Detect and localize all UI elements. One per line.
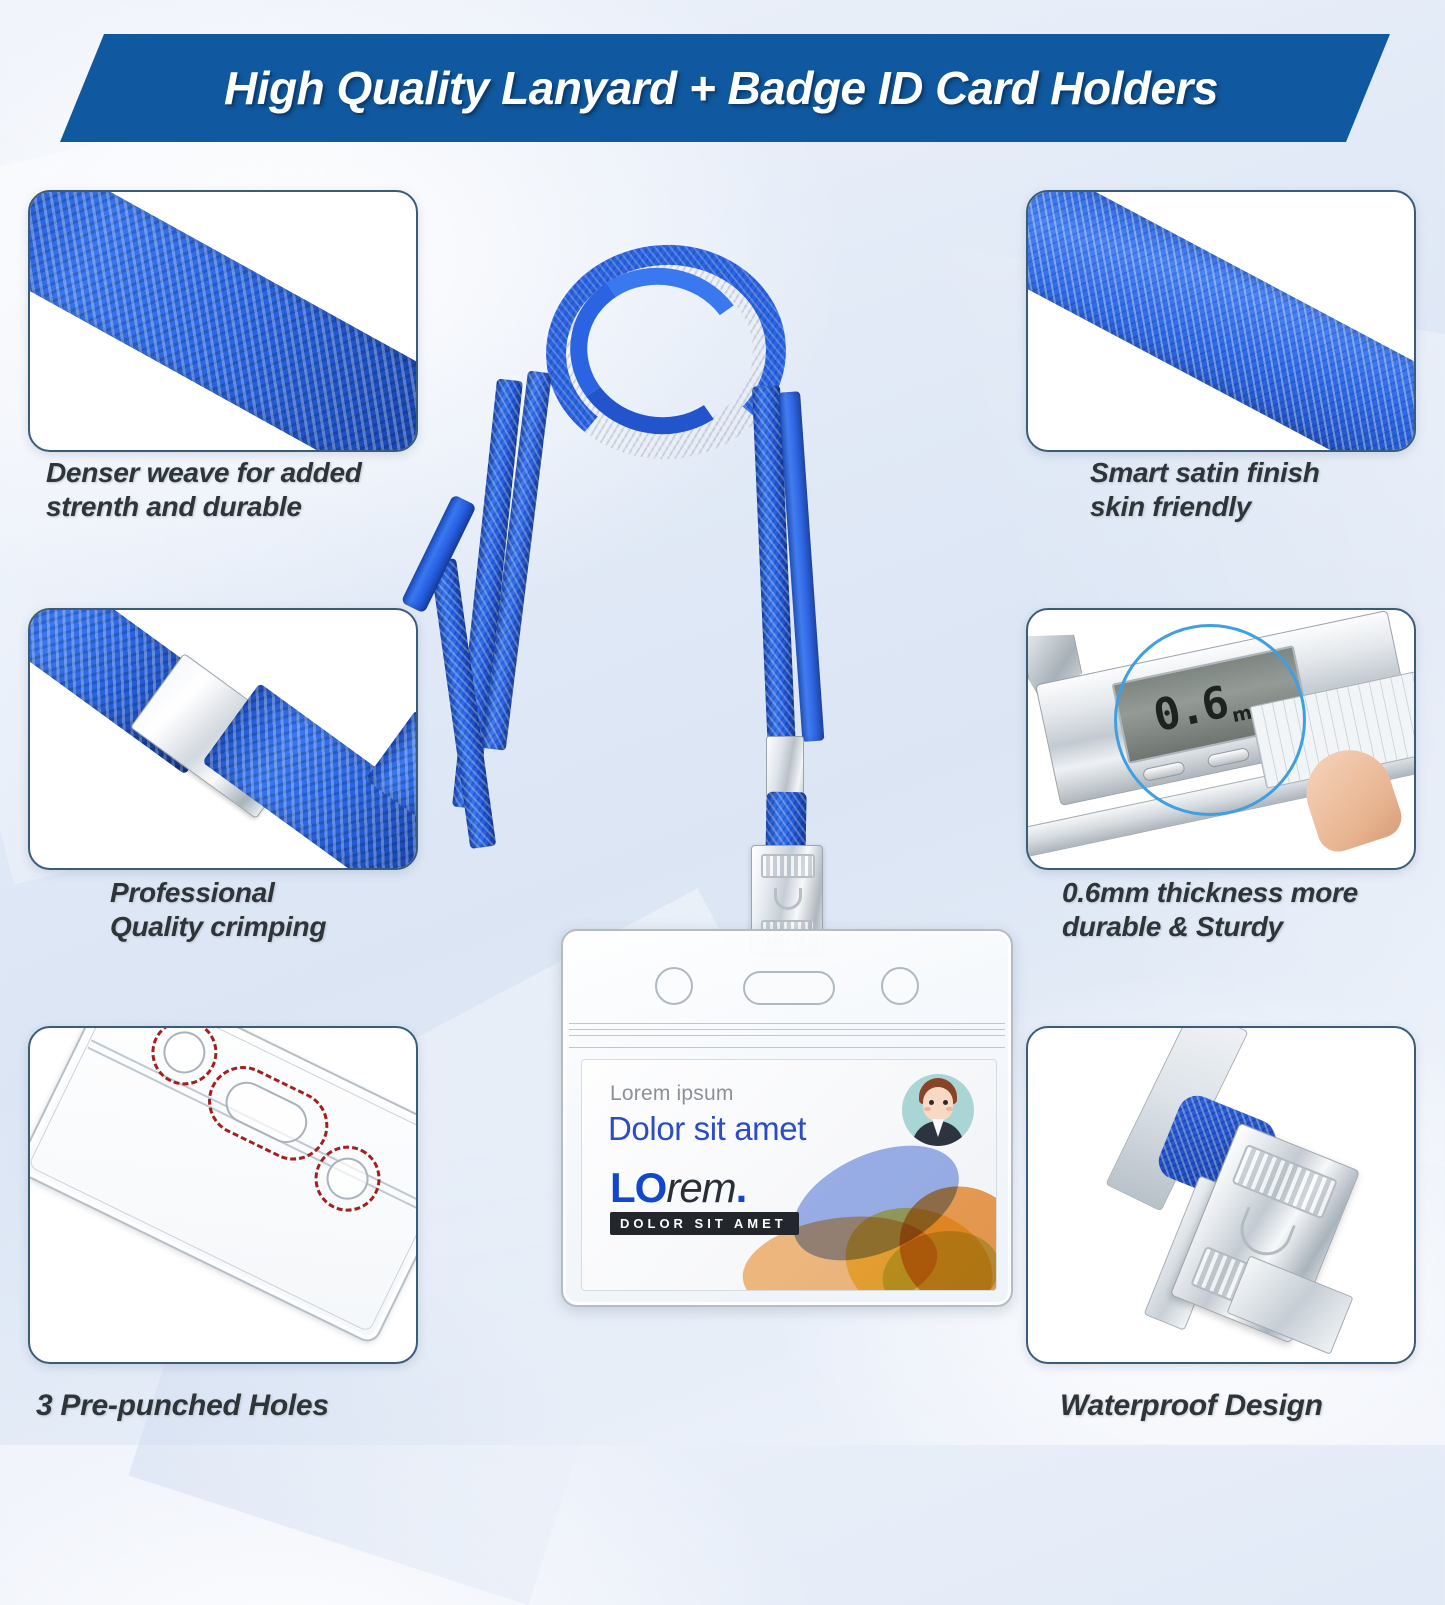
caption-line: Professional — [110, 876, 510, 910]
header-banner: High Quality Lanyard + Badge ID Card Hol… — [0, 34, 1445, 144]
caption-thickness: 0.6mm thickness more durable & Sturdy — [1062, 876, 1445, 944]
logo-bold-part: LO — [610, 1164, 666, 1211]
hero-badge-clip — [751, 845, 823, 953]
badge-holder-tilted-image — [28, 1026, 418, 1346]
lanyard-strand-left-b-texture — [482, 371, 552, 751]
lanyard-loop-inner — [557, 254, 763, 449]
lanyard-strand-left-tip — [430, 558, 496, 849]
lanyard-strand-left-tip-texture — [430, 558, 496, 849]
feature-panel-thickness: 0.6 mm — [1026, 608, 1416, 870]
avatar-face — [923, 1087, 953, 1121]
zip-seal-line — [569, 1047, 1005, 1048]
avatar-eye — [943, 1100, 948, 1105]
caption-line: 0.6mm thickness more — [1062, 876, 1445, 910]
measurement-highlight-circle — [1114, 624, 1306, 816]
decor-petal — [876, 1162, 997, 1291]
caption-crimping: Professional Quality crimping — [110, 876, 510, 944]
zip-seal-line — [569, 1023, 1005, 1024]
lanyard-strand-right — [752, 385, 796, 756]
clip-emboss-pattern — [761, 920, 815, 944]
feature-panel-crimping — [28, 608, 418, 870]
zip-seal-line — [569, 1035, 1005, 1036]
caption-line: Quality crimping — [110, 910, 510, 944]
caption-waterproof: Waterproof Design — [1060, 1388, 1445, 1425]
lanyard-strand-left — [452, 379, 523, 809]
lanyard-strap-weave-image — [28, 190, 418, 452]
lanyard-loop-texture — [539, 237, 793, 467]
caption-holes: 3 Pre-punched Holes — [36, 1388, 456, 1425]
decor-petal — [736, 1205, 943, 1291]
clip-emboss-u — [774, 888, 802, 910]
logo-dot: . — [736, 1164, 747, 1211]
lanyard-short-segment-texture — [766, 792, 806, 862]
logo-light-part: rem — [666, 1164, 735, 1211]
caption-satin: Smart satin finish skin friendly — [1090, 456, 1445, 524]
caption-line: Waterproof Design — [1060, 1388, 1445, 1425]
id-card-title: Dolor sit amet — [608, 1110, 806, 1148]
lanyard-loop-outer — [539, 237, 793, 467]
avatar-hair — [919, 1078, 957, 1104]
lanyard-strand-right-b — [778, 391, 824, 742]
banner-shape: High Quality Lanyard + Badge ID Card Hol… — [60, 34, 1390, 142]
punch-hole-round — [881, 967, 919, 1005]
caption-line: Denser weave for added — [46, 456, 446, 490]
avatar-cheek — [946, 1107, 953, 1111]
feature-panel-weave — [28, 190, 418, 452]
caption-weave: Denser weave for added strenth and durab… — [46, 456, 446, 524]
annotation-marker-slot — [196, 1054, 340, 1172]
feature-panel-waterproof — [1026, 1026, 1416, 1364]
avatar-cheek — [924, 1107, 931, 1111]
clip-emboss-pattern — [761, 854, 815, 878]
id-card-kicker: Lorem ipsum — [610, 1082, 734, 1106]
feature-panel-holes — [28, 1026, 418, 1364]
lanyard-strand-left-texture — [452, 379, 523, 809]
lanyard-strap-satin-image — [1026, 190, 1416, 452]
hero-metal-crimp — [766, 736, 804, 798]
caption-line: 3 Pre-punched Holes — [36, 1388, 456, 1425]
caption-line: Smart satin finish — [1090, 456, 1445, 490]
lanyard-strand-left-b — [482, 371, 552, 751]
id-card-tagline: DOLOR SIT AMET — [610, 1212, 799, 1235]
zip-seal-line — [569, 1029, 1005, 1030]
decor-petal — [830, 1190, 997, 1291]
lanyard-short-segment — [765, 792, 806, 863]
avatar-eye — [929, 1100, 934, 1105]
id-card-logo: LOrem. — [610, 1164, 746, 1212]
caption-line: skin friendly — [1090, 490, 1445, 524]
punch-hole-round — [655, 967, 693, 1005]
decor-petal — [875, 1221, 997, 1291]
hero-badge-holder: Lorem ipsum Dolor sit amet LOrem. DOLOR … — [561, 929, 1013, 1307]
id-card: Lorem ipsum Dolor sit amet LOrem. DOLOR … — [581, 1059, 997, 1291]
clip-emboss-u — [1233, 1207, 1296, 1264]
page-title: High Quality Lanyard + Badge ID Card Hol… — [224, 61, 1218, 115]
caption-line: durable & Sturdy — [1062, 910, 1445, 944]
lanyard-strand-right-texture — [752, 385, 796, 756]
caption-line: strenth and durable — [46, 490, 446, 524]
avatar — [902, 1074, 974, 1146]
avatar-collar — [932, 1119, 944, 1137]
avatar-body — [912, 1121, 964, 1146]
decor-petal — [776, 1122, 977, 1283]
feature-panel-satin — [1026, 190, 1416, 452]
punch-hole-slot — [743, 971, 835, 1005]
